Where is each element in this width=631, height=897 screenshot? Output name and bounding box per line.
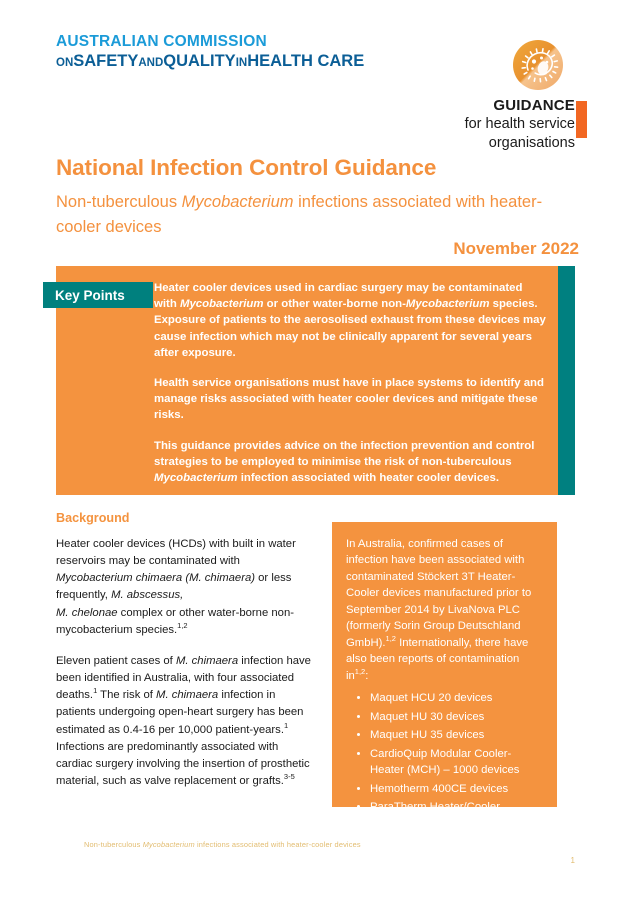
organisation-masthead: AUSTRALIAN COMMISSION ONSAFETYANDQUALITY… xyxy=(56,33,364,72)
document-date: November 2022 xyxy=(453,239,579,259)
masthead-in: IN xyxy=(236,57,248,69)
masthead-safety: SAFETY xyxy=(73,52,138,70)
kp3-a: This guidance provides advice on the inf… xyxy=(154,440,534,468)
guidance-subtitle-1: for health service xyxy=(465,115,575,134)
bg1-i2: M. abscessus, xyxy=(111,589,183,601)
sb-sup2: 1,2 xyxy=(355,667,365,676)
background-paragraph-2: Eleven patient cases of M. chimaera infe… xyxy=(56,653,316,790)
key-points-teal-bar xyxy=(558,266,575,495)
microbe-logo xyxy=(512,39,564,91)
kp1-i1: Mycobacterium xyxy=(180,298,264,310)
key-points-tab-label: Key Points xyxy=(55,288,125,303)
key-points-paragraph-2: Health service organisations must have i… xyxy=(154,375,546,424)
bg1-i3: M. chelonae xyxy=(56,607,118,619)
sb-c: : xyxy=(365,670,368,682)
sidebox-device-list: Maquet HCU 20 devices Maquet HU 30 devic… xyxy=(346,690,543,832)
key-points-paragraph-1: Heater cooler devices used in cardiac su… xyxy=(154,280,546,361)
masthead-quality: QUALITY xyxy=(163,52,235,70)
footer-a: Non-tuberculous xyxy=(84,840,143,849)
footer-italic: Mycobacterium xyxy=(143,840,195,849)
kp3-b: infection associated with heater cooler … xyxy=(238,472,499,484)
list-item: CardioQuip Modular Cooler-Heater (MCH) –… xyxy=(370,746,543,779)
guidance-title: GUIDANCE xyxy=(465,96,575,115)
masthead-on: ON xyxy=(56,57,73,69)
list-item: Maquet HU 35 devices xyxy=(370,727,543,743)
bg1-i1: Mycobacterium chimaera (M. chimaera) xyxy=(56,572,255,584)
bg2-c: The risk of xyxy=(97,689,156,701)
page-title: National Infection Control Guidance xyxy=(56,155,436,181)
footer-b: infections associated with heater-cooler… xyxy=(195,840,361,849)
list-item: Maquet HCU 20 devices xyxy=(370,690,543,706)
background-heading: Background xyxy=(56,511,129,525)
background-paragraph-1: Heater cooler devices (HCDs) with built … xyxy=(56,536,316,639)
sb-a: In Australia, confirmed cases of infecti… xyxy=(346,538,531,649)
subtitle-italic: Mycobacterium xyxy=(182,193,294,211)
page-subtitle: Non-tuberculous Mycobacterium infections… xyxy=(56,190,586,240)
background-body: Heater cooler devices (HCDs) with built … xyxy=(56,536,316,790)
subtitle-part-a: Non-tuberculous xyxy=(56,193,182,211)
kp3-i: Mycobacterium xyxy=(154,472,238,484)
key-points-paragraph-3: This guidance provides advice on the inf… xyxy=(154,438,546,487)
guidance-label-block: GUIDANCE for health service organisation… xyxy=(465,96,575,152)
kp1-i2: Mycobacterium xyxy=(406,298,490,310)
masthead-healthcare: HEALTH CARE xyxy=(247,52,364,70)
list-item: Hemotherm 400CE devices xyxy=(370,781,543,797)
bg2-e: Infections are predominantly associated … xyxy=(56,741,310,787)
sidebox-paragraph: In Australia, confirmed cases of infecti… xyxy=(346,536,543,684)
bg1-a: Heater cooler devices (HCDs) with built … xyxy=(56,538,296,567)
bg2-sup2: 1 xyxy=(284,721,288,730)
footer-title: Non-tuberculous Mycobacterium infections… xyxy=(84,840,361,849)
bg2-sup3: 3-5 xyxy=(284,772,295,781)
list-item: Maquet HU 30 devices xyxy=(370,709,543,725)
bg1-sup: 1,2 xyxy=(177,621,187,630)
guidance-accent-bar xyxy=(576,101,587,138)
key-points-body: Heater cooler devices used in cardiac su… xyxy=(154,280,546,486)
bg2-i1: M. chimaera xyxy=(176,655,238,667)
page-number: 1 xyxy=(571,856,575,865)
sb-sup1: 1,2 xyxy=(386,634,396,643)
guidance-subtitle-2: organisations xyxy=(465,134,575,153)
masthead-line-2: ONSAFETYANDQUALITYINHEALTH CARE xyxy=(56,52,364,72)
document-page: AUSTRALIAN COMMISSION ONSAFETYANDQUALITY… xyxy=(0,0,631,897)
bg2-i2: M. chimaera xyxy=(156,689,218,701)
masthead-and: AND xyxy=(138,57,163,69)
masthead-line-1: AUSTRALIAN COMMISSION xyxy=(56,33,364,51)
kp1-b: or other water-borne non- xyxy=(264,298,406,310)
australia-cases-sidebox: In Australia, confirmed cases of infecti… xyxy=(332,522,557,807)
key-points-tab: Key Points xyxy=(43,282,153,308)
bg2-a: Eleven patient cases of xyxy=(56,655,176,667)
list-item: ParaTherm Heater/Cooler devices. xyxy=(370,799,543,832)
